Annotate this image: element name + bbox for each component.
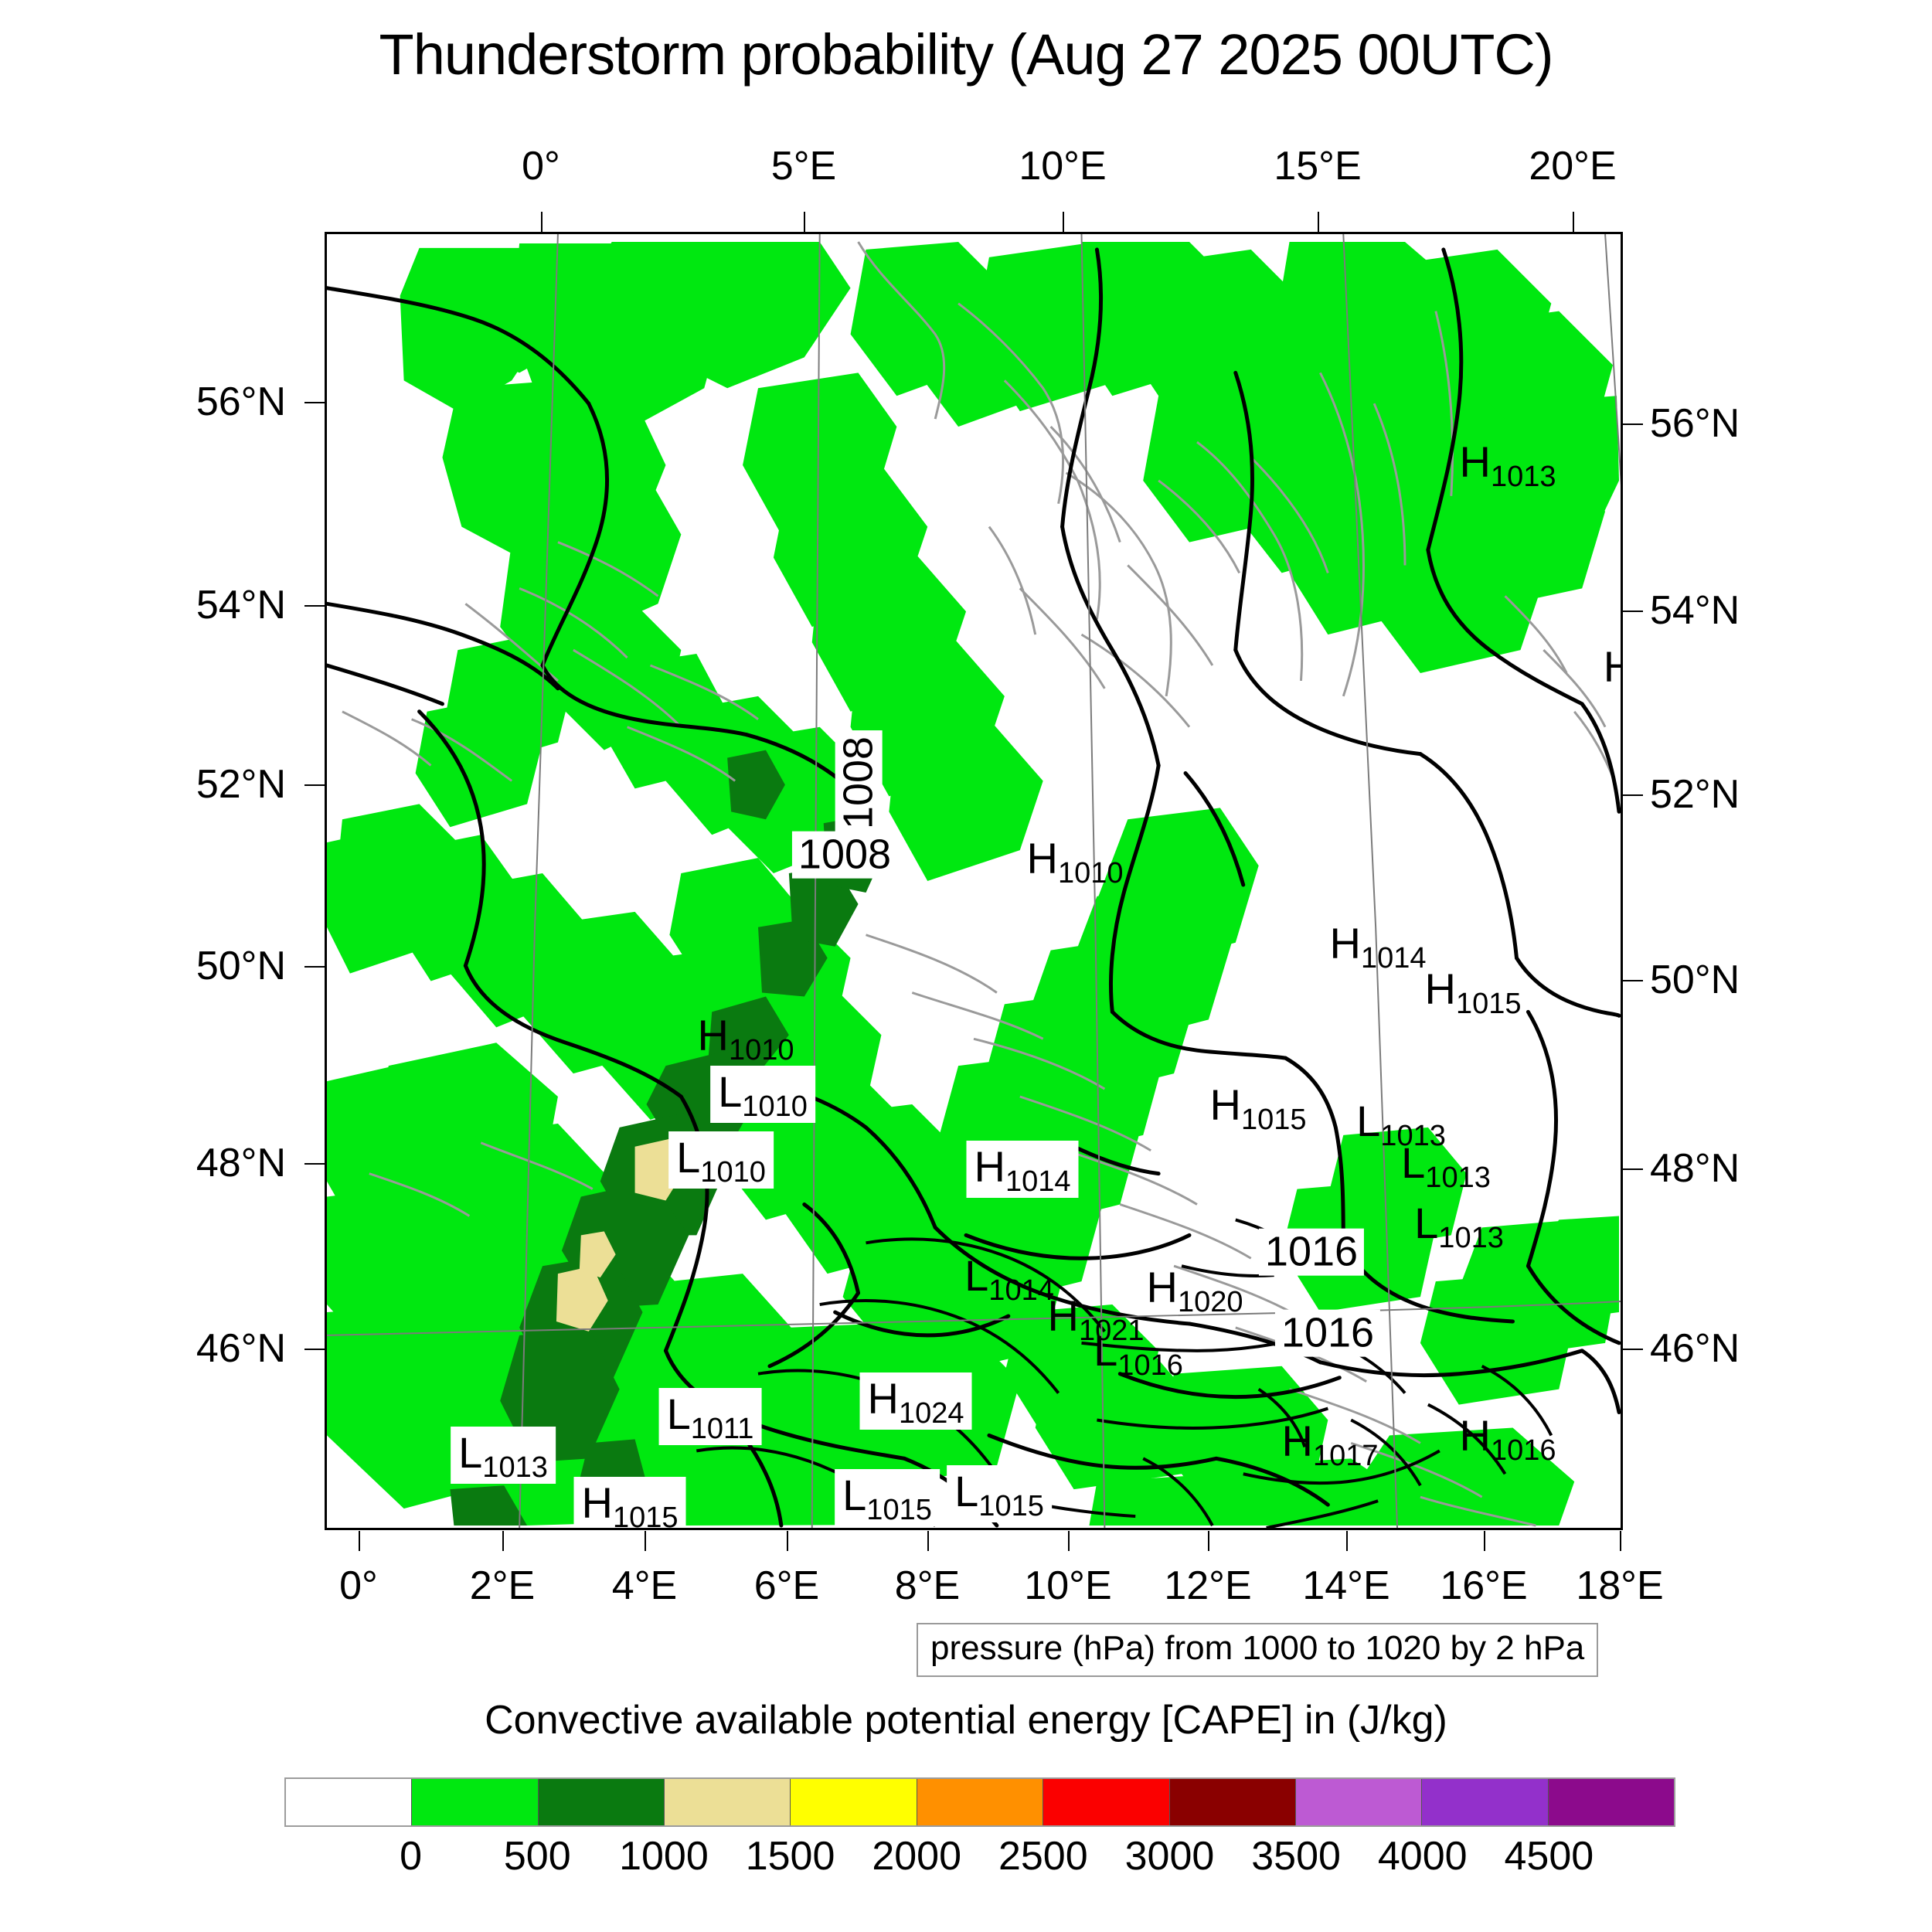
pressure-centre-type: H	[868, 1374, 899, 1423]
pressure-centre-value: 1011	[691, 1413, 754, 1445]
axis-right-label: 56°N	[1650, 400, 1740, 447]
high-pressure-marker: H1015	[1425, 968, 1522, 1011]
colorbar-tick-label: 2000	[872, 1833, 961, 1879]
pressure-centre-value: 1016	[1491, 1434, 1556, 1467]
axis-bottom-tick	[645, 1531, 646, 1551]
axis-right-label: 50°N	[1650, 957, 1740, 1003]
pressure-centre-type: H	[1210, 1080, 1241, 1129]
axis-left-tick	[304, 605, 325, 607]
pressure-centre-type: L	[1414, 1199, 1438, 1247]
pressure-centre-type: L	[964, 1251, 988, 1300]
axis-top-tick	[804, 212, 805, 232]
colorbar-tick-label: 500	[504, 1833, 571, 1879]
axis-left-label: 50°N	[196, 943, 286, 989]
low-pressure-marker: L1013	[1401, 1141, 1491, 1185]
axis-top-tick	[1573, 212, 1574, 232]
pressure-centre-type: L	[842, 1471, 866, 1519]
pressure-centre-value: 1015	[1456, 988, 1522, 1020]
colorbar-swatch-yellow[interactable]	[791, 1779, 917, 1825]
low-pressure-marker: L1010	[668, 1131, 774, 1189]
high-pressure-marker: H1020	[1147, 1266, 1243, 1309]
high-pressure-marker: H1010	[1027, 837, 1124, 880]
pressure-centre-type: H	[1147, 1263, 1178, 1311]
axis-right-label: 52°N	[1650, 771, 1740, 818]
colorbar-tick-label: 2500	[998, 1833, 1088, 1879]
pressure-centre-value: 1010	[729, 1034, 794, 1066]
low-pressure-marker: L1016	[1094, 1329, 1183, 1372]
high-pressure-marker: H1013	[1460, 440, 1556, 484]
pressure-centre-value: 1010	[742, 1090, 808, 1123]
colorbar-swatch-orange[interactable]	[917, 1779, 1043, 1825]
pressure-centre-value: 1017	[1313, 1440, 1379, 1472]
axis-left-tick	[304, 784, 325, 786]
colorbar-tick-label: 0	[400, 1833, 422, 1879]
pressure-centre-value: 1010	[1058, 857, 1124, 889]
pressure-centre-value: 1015	[1241, 1104, 1307, 1136]
axis-right-tick	[1623, 611, 1643, 612]
pressure-centre-value: 1016	[1117, 1349, 1183, 1382]
axis-left-tick	[304, 1349, 325, 1350]
colorbar-tick-label: 1000	[619, 1833, 709, 1879]
page-title: Thunderstorm probability (Aug 27 2025 00…	[0, 22, 1932, 87]
axis-left-label: 46°N	[196, 1325, 286, 1372]
axis-right-tick	[1623, 1168, 1643, 1170]
axis-right-tick	[1623, 794, 1643, 796]
pressure-centre-value: 1013	[1491, 461, 1556, 493]
axis-top-label: 10°E	[1019, 143, 1106, 189]
pressure-centre-type: H	[1282, 1417, 1313, 1465]
pressure-centre-type: H	[975, 1142, 1005, 1191]
axis-bottom-tick	[1208, 1531, 1209, 1551]
pressure-centre-type: H	[1330, 919, 1361, 968]
pressure-centre-type: H	[1425, 964, 1456, 1013]
axis-bottom-tick	[1346, 1531, 1348, 1551]
pressure-centre-value: 1014	[1361, 942, 1427, 975]
axis-right-label: 54°N	[1650, 587, 1740, 634]
axis-top-tick	[1063, 212, 1064, 232]
low-pressure-marker: L1015	[835, 1469, 940, 1526]
pressure-centre-type: L	[1401, 1138, 1425, 1187]
cape-colorbar-ticks: 050010001500200025003000350040004500	[284, 1833, 1675, 1887]
cape-colorbar[interactable]	[284, 1777, 1675, 1827]
pressure-centre-type: L	[954, 1467, 978, 1515]
high-pressure-marker: H1017	[1282, 1420, 1379, 1463]
pressure-centre-type: H	[1460, 437, 1491, 486]
colorbar-swatch-purple[interactable]	[1422, 1779, 1548, 1825]
colorbar-tick-label: 3000	[1125, 1833, 1215, 1879]
pressure-centre-type: H	[1027, 834, 1058, 883]
axis-bottom-tick	[359, 1531, 360, 1551]
pressure-centre-type: H	[1604, 642, 1623, 691]
colorbar-swatch-white[interactable]	[286, 1779, 412, 1825]
pressure-centre-value: 1013	[1438, 1222, 1504, 1254]
axis-bottom-label: 2°E	[470, 1563, 535, 1609]
pressure-centre-value: 1015	[978, 1490, 1044, 1522]
axis-top-label: 5°E	[771, 143, 836, 189]
axis-bottom-label: 6°E	[754, 1563, 819, 1609]
axis-right-tick	[1623, 980, 1643, 981]
axis-right-label: 46°N	[1650, 1325, 1740, 1372]
axis-top-label: 15°E	[1274, 143, 1361, 189]
colorbar-tick-label: 4000	[1378, 1833, 1468, 1879]
contour-label: 1016	[1275, 1310, 1380, 1357]
axis-bottom-tick	[1620, 1531, 1621, 1551]
high-pressure-marker: H1024	[860, 1372, 972, 1430]
map-annotation-overlay: 1008100810161016H1013HH1010H1014H1015H10…	[327, 234, 1621, 1528]
axis-left-label: 54°N	[196, 582, 286, 628]
axis-bottom-label: 16°E	[1440, 1563, 1527, 1609]
colorbar-swatch-dark-magenta[interactable]	[1549, 1779, 1674, 1825]
pressure-centre-type: L	[1094, 1326, 1117, 1375]
low-pressure-marker: L1013	[451, 1427, 556, 1484]
contour-label: 1008	[792, 832, 897, 879]
axis-bottom-label: 4°E	[612, 1563, 677, 1609]
pressure-centre-value: 1024	[899, 1397, 964, 1430]
pressure-centre-type: L	[718, 1067, 742, 1116]
pressure-centre-type: H	[1460, 1411, 1491, 1460]
contour-label: 1016	[1259, 1229, 1364, 1276]
axis-right-tick	[1623, 1349, 1643, 1350]
colorbar-swatch-orchid[interactable]	[1296, 1779, 1422, 1825]
colorbar-swatch-dark-green[interactable]	[539, 1779, 665, 1825]
axis-bottom-label: 10°E	[1024, 1563, 1111, 1609]
high-pressure-marker: H1015	[574, 1477, 686, 1530]
colorbar-tick-label: 1500	[746, 1833, 835, 1879]
low-pressure-marker: L1013	[1414, 1202, 1504, 1245]
low-pressure-marker: L1015	[947, 1465, 1052, 1522]
pressure-centre-value: 1020	[1178, 1286, 1243, 1318]
pressure-centre-type: H	[582, 1478, 613, 1527]
colorbar-tick-label: 4500	[1505, 1833, 1594, 1879]
axis-left-tick	[304, 966, 325, 968]
axis-bottom-tick	[502, 1531, 504, 1551]
colorbar-caption: Convective available potential energy [C…	[0, 1697, 1932, 1743]
colorbar-swatch-red[interactable]	[1043, 1779, 1169, 1825]
pressure-centre-value: 1014	[1005, 1165, 1071, 1198]
pressure-contour-note: pressure (hPa) from 1000 to 1020 by 2 hP…	[917, 1623, 1598, 1677]
axis-bottom-label: 12°E	[1164, 1563, 1251, 1609]
axis-bottom-label: 0°	[339, 1563, 378, 1609]
pressure-centre-value: 1010	[700, 1156, 766, 1189]
axis-right-tick	[1623, 423, 1643, 425]
high-pressure-marker: H	[1604, 645, 1623, 689]
colorbar-tick-label: 3500	[1251, 1833, 1341, 1879]
pressure-centre-type: H	[698, 1011, 729, 1060]
axis-top-tick	[1318, 212, 1319, 232]
high-pressure-marker: H1016	[1460, 1414, 1556, 1458]
high-pressure-marker: H1015	[1210, 1083, 1307, 1127]
high-pressure-marker: H1010	[698, 1014, 794, 1057]
axis-left-label: 52°N	[196, 761, 286, 808]
low-pressure-marker: L1010	[710, 1066, 815, 1123]
axis-bottom-tick	[927, 1531, 929, 1551]
colorbar-swatch-dark-red[interactable]	[1170, 1779, 1296, 1825]
axis-top-label: 0°	[522, 143, 560, 189]
colorbar-swatch-khaki[interactable]	[665, 1779, 791, 1825]
low-pressure-marker: L1013	[1356, 1100, 1446, 1143]
axis-bottom-tick	[1068, 1531, 1070, 1551]
map-plot-area[interactable]: 1008100810161016H1013HH1010H1014H1015H10…	[325, 232, 1623, 1530]
contour-label: 1008	[835, 730, 883, 835]
axis-bottom-tick	[1484, 1531, 1485, 1551]
pressure-centre-type: L	[676, 1133, 700, 1182]
pressure-centre-value: 1013	[1425, 1162, 1491, 1194]
colorbar-swatch-bright-green[interactable]	[412, 1779, 538, 1825]
axis-left-tick	[304, 402, 325, 403]
pressure-centre-value: 1013	[482, 1451, 548, 1484]
pressure-centre-type: H	[1048, 1291, 1079, 1340]
pressure-centre-value: 1015	[866, 1494, 932, 1526]
axis-bottom-label: 8°E	[895, 1563, 960, 1609]
axis-top-label: 20°E	[1529, 143, 1616, 189]
axis-left-label: 48°N	[196, 1140, 286, 1186]
high-pressure-marker: H1014	[967, 1141, 1079, 1198]
axis-bottom-label: 14°E	[1302, 1563, 1389, 1609]
pressure-centre-value: 1014	[988, 1274, 1054, 1307]
axis-bottom-label: 18°E	[1576, 1563, 1663, 1609]
axis-bottom-tick	[787, 1531, 788, 1551]
axis-right-label: 48°N	[1650, 1145, 1740, 1192]
low-pressure-marker: L1014	[964, 1254, 1054, 1298]
pressure-centre-type: L	[667, 1389, 691, 1438]
axis-left-label: 56°N	[196, 379, 286, 425]
pressure-centre-type: L	[458, 1428, 482, 1477]
axis-top-tick	[541, 212, 543, 232]
pressure-centre-value: 1015	[613, 1502, 679, 1530]
pressure-centre-type: L	[1356, 1097, 1380, 1145]
low-pressure-marker: L1011	[659, 1388, 762, 1445]
high-pressure-marker: H1014	[1330, 922, 1427, 965]
axis-left-tick	[304, 1163, 325, 1165]
